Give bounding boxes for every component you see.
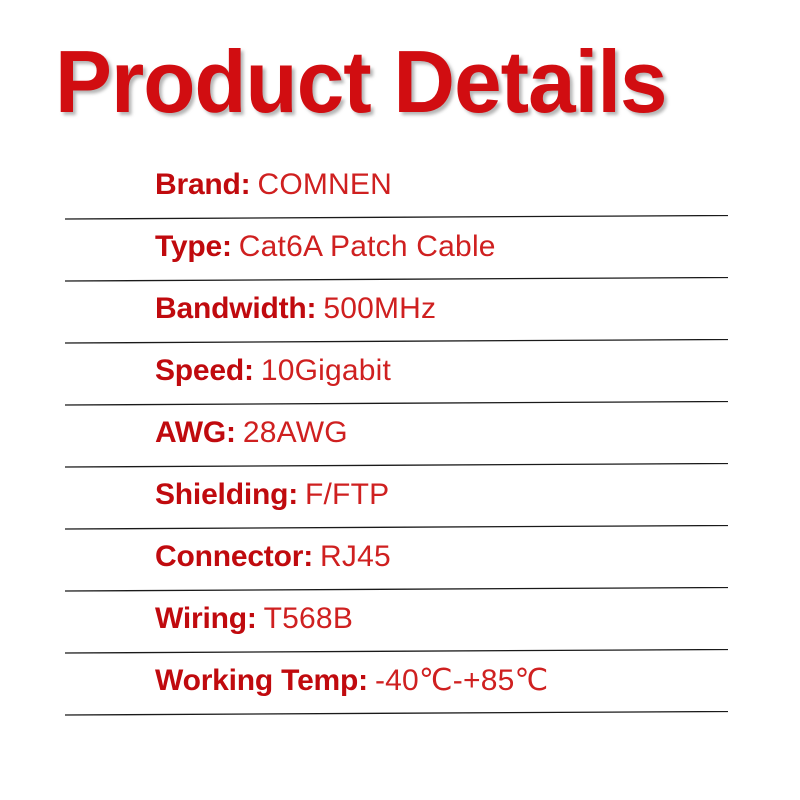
spec-row-wiring: Wiring:T568B — [0, 592, 800, 654]
page-title: Product Details — [55, 34, 667, 130]
spec-label-brand: Brand: — [155, 168, 250, 201]
spec-value-working-temp: -40℃-+85℃ — [375, 664, 548, 697]
spec-value-brand: COMNEN — [257, 168, 392, 201]
spec-row-working-temp: Working Temp:-40℃-+85℃ — [0, 654, 800, 716]
spec-label-awg: AWG: — [155, 416, 236, 449]
spec-text: AWG:28AWG — [155, 412, 348, 459]
spec-text: Wiring:T568B — [155, 598, 353, 645]
spec-label-type: Type: — [155, 230, 232, 263]
spec-row-brand: Brand:COMNEN — [0, 158, 800, 220]
page-title-container: Product Details — [0, 34, 800, 134]
spec-value-awg: 28AWG — [243, 416, 348, 449]
spec-label-speed: Speed: — [155, 354, 254, 387]
spec-value-speed: 10Gigabit — [261, 354, 391, 387]
spec-text: Speed:10Gigabit — [155, 350, 391, 397]
spec-label-bandwidth: Bandwidth: — [155, 292, 316, 325]
spec-label-working-temp: Working Temp: — [155, 664, 368, 697]
product-details-page: Product Details Brand:COMNEN Type:Cat6A … — [0, 0, 800, 800]
spec-text: Working Temp:-40℃-+85℃ — [155, 660, 548, 707]
spec-value-connector: RJ45 — [320, 540, 391, 573]
spec-text: Shielding:F/FTP — [155, 474, 389, 521]
spec-text: Bandwidth:500MHz — [155, 288, 436, 335]
row-divider — [65, 711, 728, 716]
spec-text: Connector:RJ45 — [155, 536, 391, 583]
spec-text: Type:Cat6A Patch Cable — [155, 226, 496, 273]
spec-value-bandwidth: 500MHz — [323, 292, 436, 325]
spec-text: Brand:COMNEN — [155, 164, 392, 211]
spec-value-shielding: F/FTP — [305, 478, 389, 511]
spec-row-bandwidth: Bandwidth:500MHz — [0, 282, 800, 344]
spec-row-awg: AWG:28AWG — [0, 406, 800, 468]
spec-label-wiring: Wiring: — [155, 602, 257, 635]
spec-row-shielding: Shielding:F/FTP — [0, 468, 800, 530]
spec-value-type: Cat6A Patch Cable — [239, 230, 496, 263]
spec-row-type: Type:Cat6A Patch Cable — [0, 220, 800, 282]
spec-row-speed: Speed:10Gigabit — [0, 344, 800, 406]
spec-label-shielding: Shielding: — [155, 478, 298, 511]
spec-value-wiring: T568B — [264, 602, 353, 635]
spec-list: Brand:COMNEN Type:Cat6A Patch Cable Band… — [0, 158, 800, 716]
spec-row-connector: Connector:RJ45 — [0, 530, 800, 592]
spec-label-connector: Connector: — [155, 540, 313, 573]
